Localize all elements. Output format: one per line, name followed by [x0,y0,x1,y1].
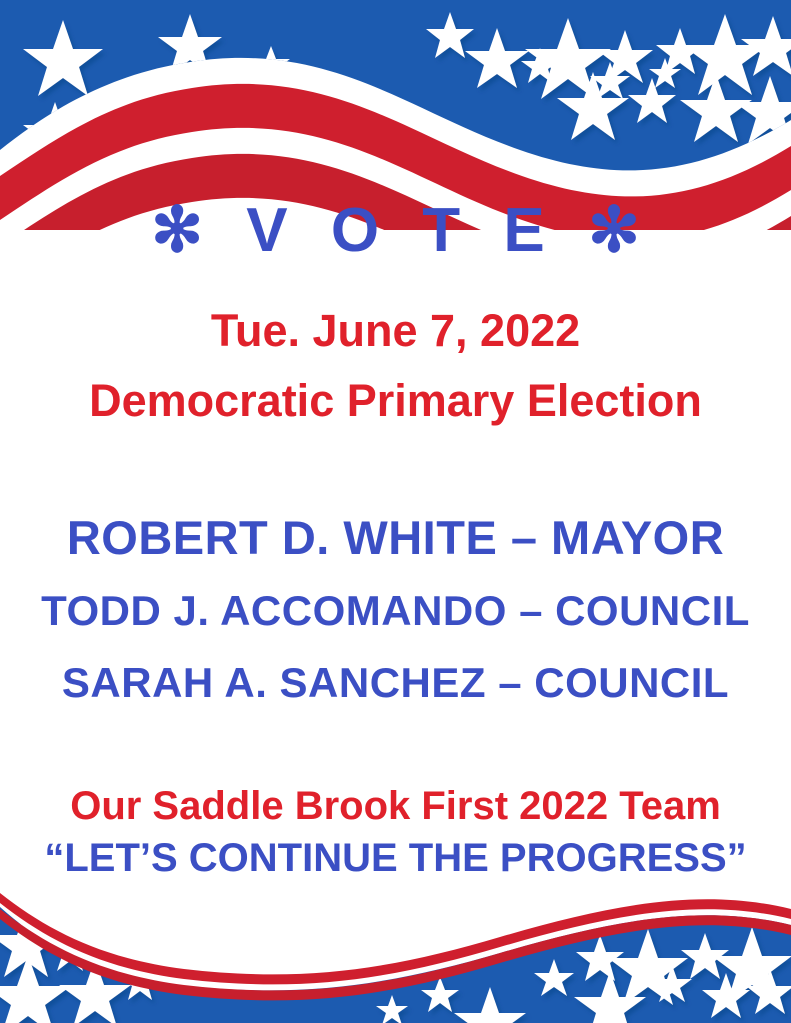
star-icon [0,909,62,977]
star-icon [534,959,574,996]
flag-blue-field-bottom [0,907,791,1023]
star-icon [525,18,611,99]
star-icon [712,927,791,1003]
star-icon [681,933,729,979]
star-icon [680,74,752,142]
star-icon [0,955,71,1023]
star-icon [656,28,704,74]
star-icon [426,12,474,58]
star-icon [113,74,161,119]
star-icon [421,977,459,1012]
star-icon [734,76,791,144]
campaign-flyer: ✻ V O T E ✻ Tue. June 7, 2022 Democratic… [0,0,791,1023]
star-icon [597,30,653,83]
candidate-row-mayor: ROBERT D. WHITE – MAYOR [0,500,791,575]
star-cluster-bottom [0,909,791,1023]
star-icon [557,72,629,140]
star-icon [702,973,750,1018]
campaign-slogan: “LET’S CONTINUE THE PROGRESS” [0,832,791,884]
star-cluster-top [23,12,791,162]
candidate-list: ROBERT D. WHITE – MAYOR TODD J. ACCOMAND… [0,500,791,719]
star-icon [252,46,290,81]
star-icon [49,931,91,971]
star-icon [741,16,791,76]
flag-red-stripe-bottom-1 [0,893,791,984]
star-icon [465,28,529,88]
star-icon [376,995,408,1023]
star-icon [590,62,630,99]
star-icon [158,14,222,74]
team-name: Our Saddle Brook First 2022 Team [0,780,791,832]
election-name: Democratic Primary Election [0,375,791,427]
star-icon [746,969,791,1014]
star-icon [454,987,526,1023]
election-date: Tue. June 7, 2022 [0,305,791,357]
flag-blue-field-top [0,0,791,170]
flag-banner-bottom [0,873,791,1023]
candidate-row-council-1: TODD J. ACCOMANDO – COUNCIL [0,575,791,647]
candidate-row-council-2: SARAH A. SANCHEZ – COUNCIL [0,647,791,719]
star-icon [576,935,624,981]
star-icon [682,14,768,95]
star-icon [23,102,87,162]
flag-red-stripe-bottom-2 [0,909,791,1000]
star-icon [608,929,688,1005]
star-icon [59,959,131,1023]
star-icon [652,965,692,1002]
star-icon [574,971,646,1023]
star-icon [628,78,676,123]
vote-headline: ✻ V O T E ✻ [0,196,791,266]
star-icon [121,965,159,1000]
star-icon [649,58,681,88]
slogan-block: Our Saddle Brook First 2022 Team “LET’S … [0,780,791,884]
star-icon [23,20,103,96]
star-icon [521,48,559,83]
